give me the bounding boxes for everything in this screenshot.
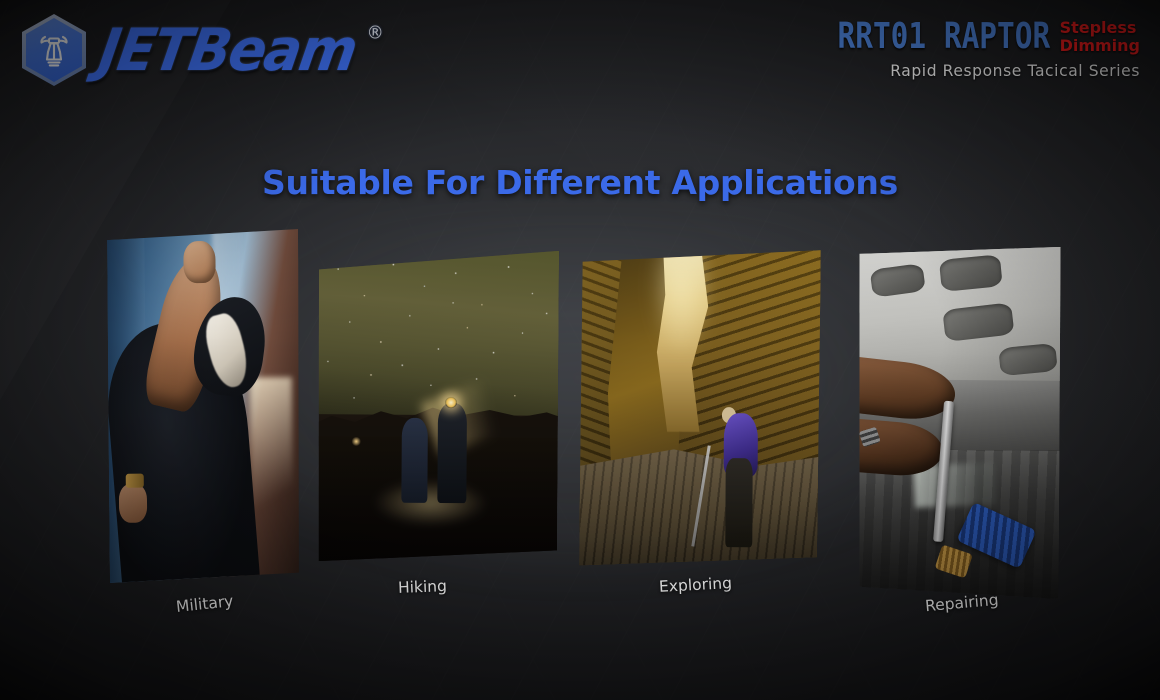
hiking-scene-image xyxy=(317,249,559,563)
gallery-panel-military[interactable] xyxy=(106,229,302,583)
military-scene-image xyxy=(106,229,302,583)
application-gallery: Military Hiking Exploring Repairing xyxy=(0,0,1160,700)
gallery-panel-repairing[interactable] xyxy=(856,245,1061,599)
repairing-scene-image xyxy=(856,245,1061,599)
gallery-caption-hiking: Hiking xyxy=(398,577,448,597)
exploring-scene-image xyxy=(579,247,821,566)
gallery-caption-repairing: Repairing xyxy=(924,591,999,615)
gallery-caption-exploring: Exploring xyxy=(659,574,733,596)
gallery-panel-hiking[interactable] xyxy=(317,249,559,563)
slide-background: JETBeam ® RRT01 RAPTOR Stepless Dimming … xyxy=(0,0,1160,700)
gallery-caption-military: Military xyxy=(175,592,234,616)
gallery-panel-exploring[interactable] xyxy=(579,247,821,566)
